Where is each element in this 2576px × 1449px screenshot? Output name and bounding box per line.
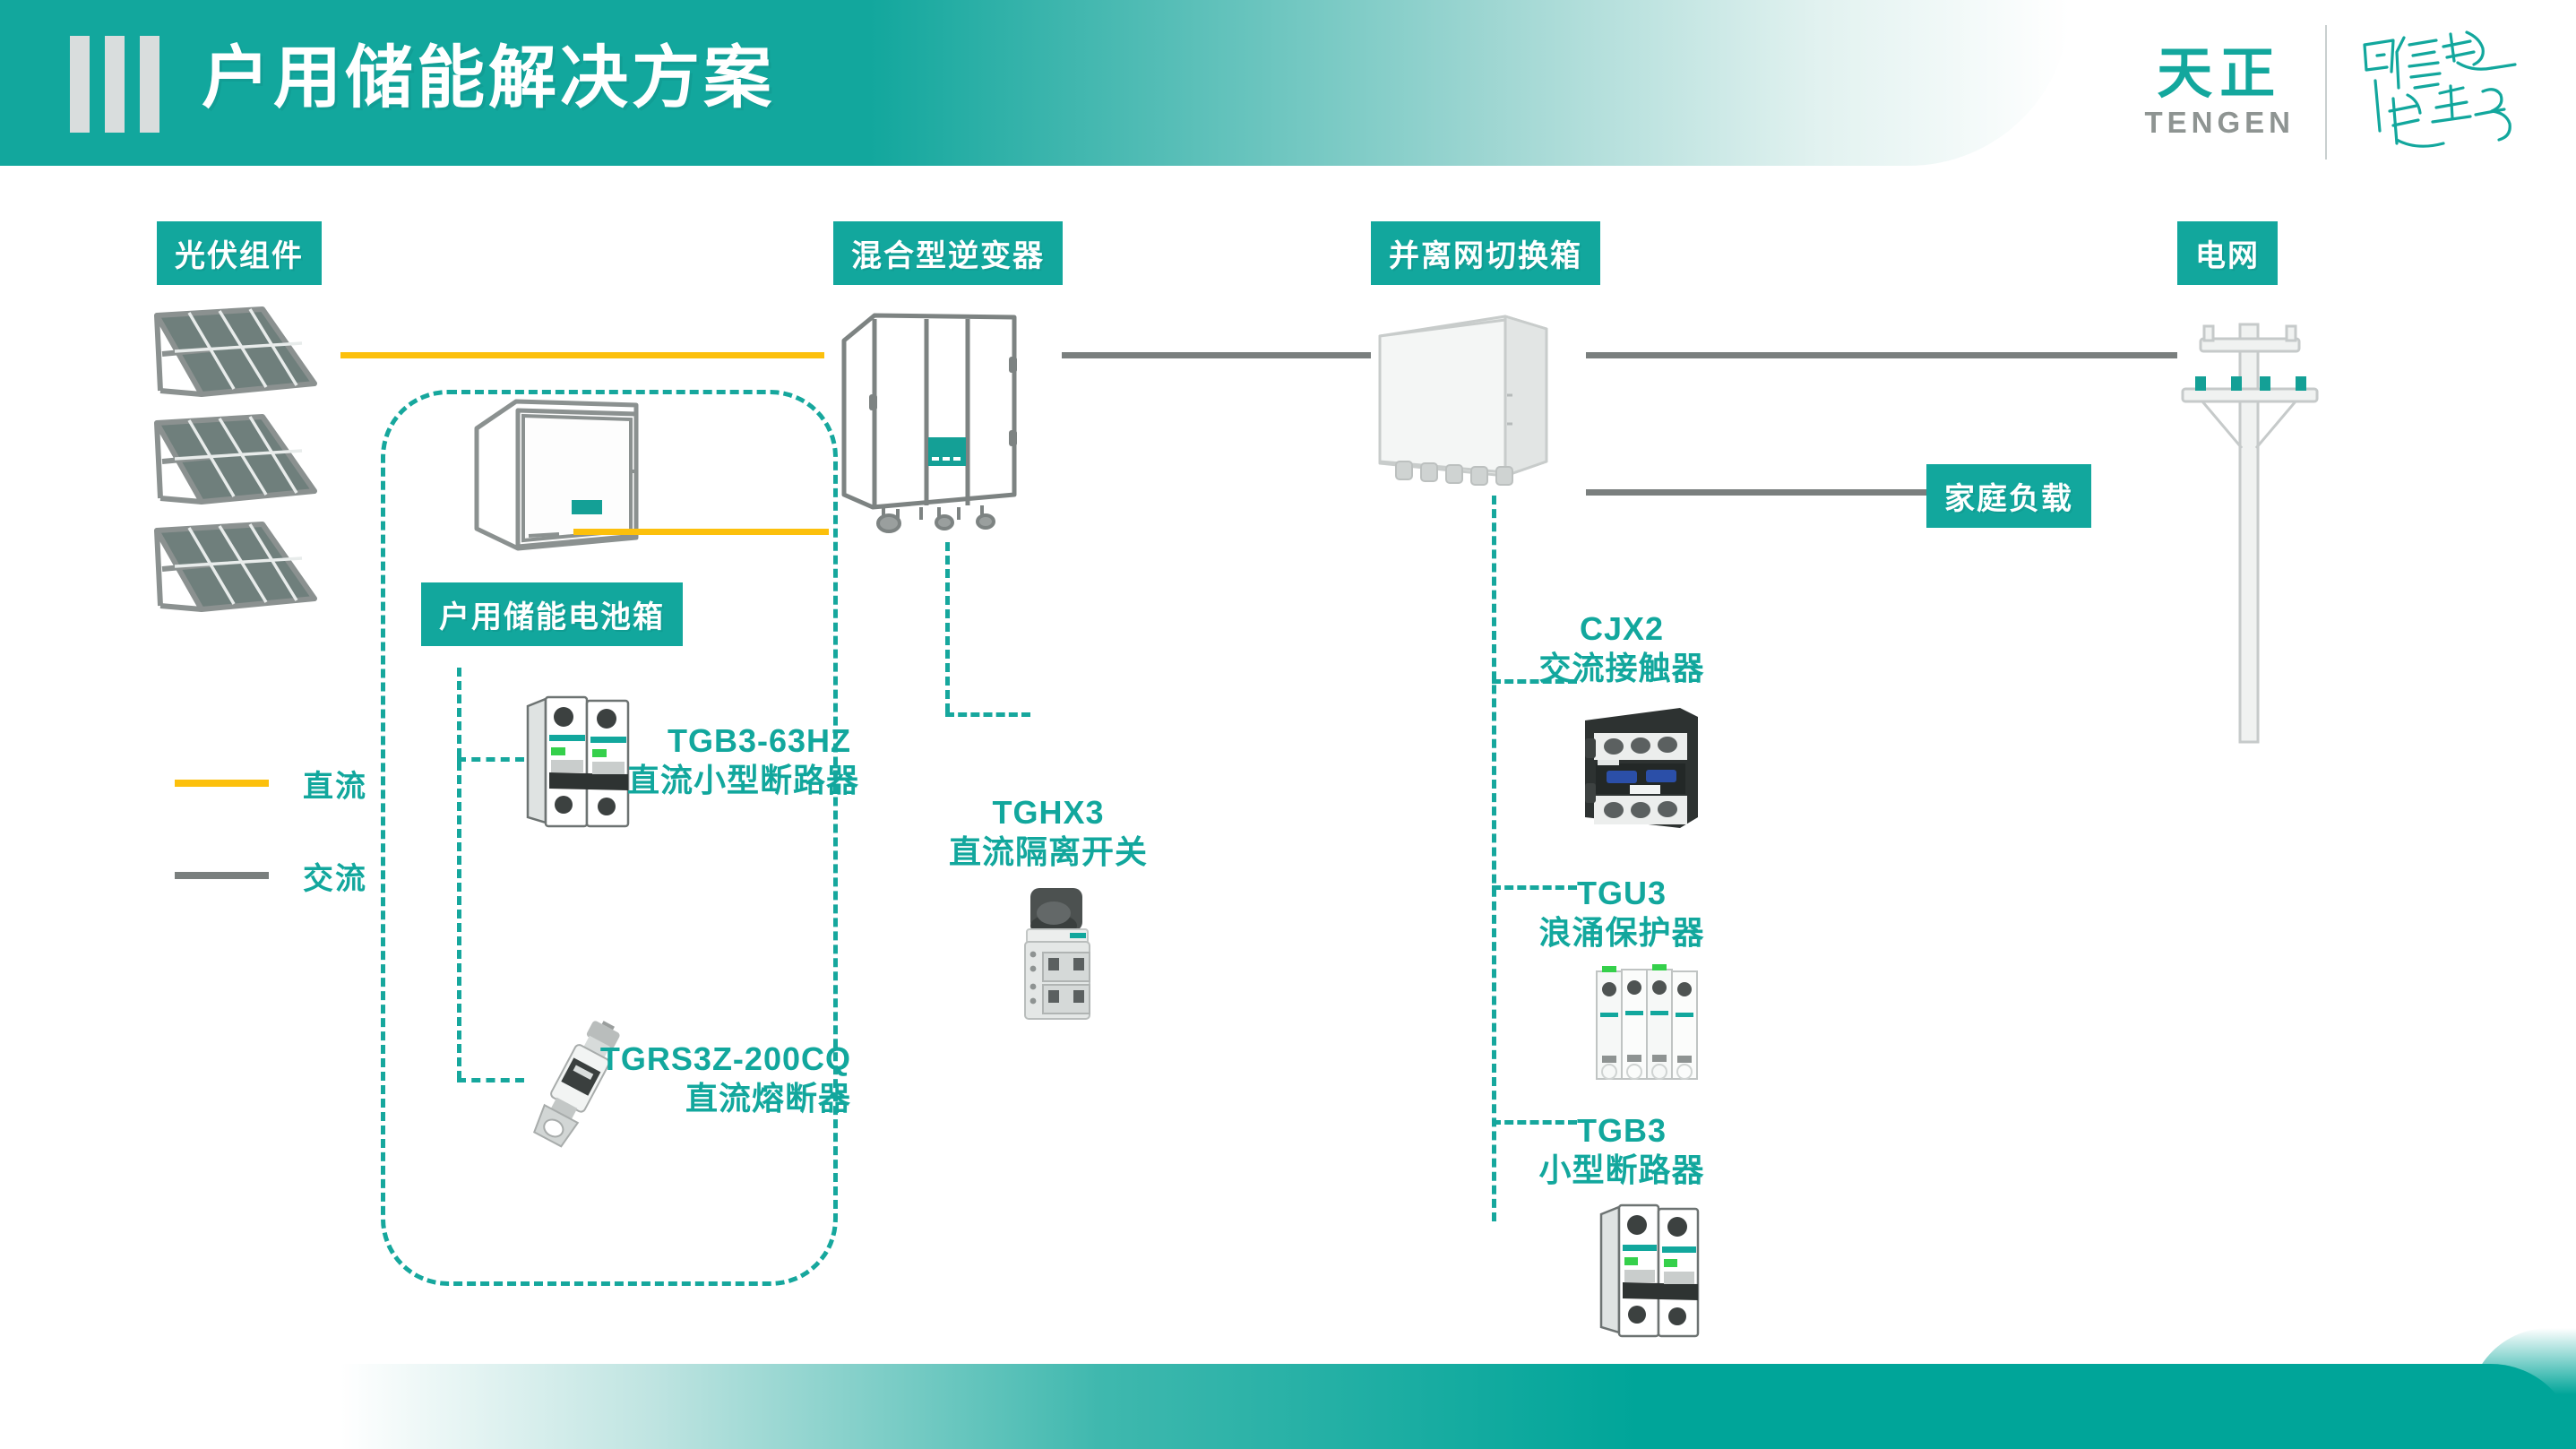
component-model-tghx3: TGHX3 [923,793,1174,832]
header-bars-icon [70,36,159,133]
branch-line-to-tgrs3z [457,1078,524,1082]
dc-isolator-switch-icon [1004,883,1111,1026]
tag-battery-box: 户用储能电池箱 [421,582,683,646]
diagram-stage: 光伏组件 直流 [0,166,2576,1331]
brand-divider [2325,25,2327,160]
wire-dc-pv-to-inverter [340,352,824,358]
component-desc-tgb3: 小型断路器 [1487,1151,1756,1190]
brand-slogan-handwriting-icon [2357,25,2528,160]
solar-panel-icon-1 [148,305,327,412]
component-model-tgb3-63hz: TGB3-63HZ [627,721,851,761]
component-desc-cjx2: 交流接触器 [1487,649,1756,688]
component-model-tgu3: TGU3 [1487,874,1756,913]
branch-line-battery-vertical [457,668,461,1080]
component-model-cjx2: CJX2 [1487,609,1756,649]
surge-protector-icon [1586,959,1707,1089]
component-desc-tghx3: 直流隔离开关 [923,832,1174,872]
tag-pv-modules: 光伏组件 [157,221,322,285]
legend-item-ac: 交流 [175,850,367,901]
legend-swatch-ac [175,872,269,879]
component-cjx2: CJX2 交流接触器 [1487,609,1756,688]
component-tgb3: TGB3 小型断路器 [1487,1111,1756,1190]
page-title: 户用储能解决方案 [202,25,775,133]
mcb-dc-icon [515,690,645,833]
legend-label-dc: 直流 [303,762,367,806]
component-tgb3-63hz: TGB3-63HZ 直流小型断路器 [627,721,851,800]
component-tgu3: TGU3 浪涌保护器 [1487,874,1756,953]
tag-home-load: 家庭负载 [1926,464,2091,528]
solar-panel-icon-3 [148,520,327,627]
legend: 直流 交流 [175,757,367,942]
mcb-icon [1590,1196,1711,1344]
legend-label-ac: 交流 [303,854,367,898]
component-tghx3: TGHX3 直流隔离开关 [923,793,1174,872]
branch-line-inverter-vertical [945,542,950,712]
tengen-logo: 天正 TENGEN [2144,45,2295,140]
branch-line-to-tghx3 [945,712,1030,717]
tag-inverter: 混合型逆变器 [833,221,1063,285]
branch-line-to-tgb3-63hz [457,757,524,762]
brand-name-en: TENGEN [2144,106,2295,140]
grid-switch-box-icon [1371,309,1555,493]
component-model-tgrs3z: TGRS3Z-200CQ [573,1039,851,1079]
wire-ac-switchbox-to-load [1586,489,1926,496]
brand-lockup: 天正 TENGEN [2144,25,2528,160]
component-tgrs3z: TGRS3Z-200CQ 直流熔断器 [573,1039,851,1118]
brand-name-cn: 天正 [2157,45,2282,104]
wire-ac-inverter-to-switchbox [1062,352,1371,358]
tag-grid: 电网 [2177,221,2278,285]
component-desc-tgrs3z: 直流熔断器 [573,1079,851,1118]
tag-switchbox: 并离网切换箱 [1371,221,1600,285]
wire-ac-switchbox-to-grid [1586,352,2177,358]
footer-decoration [0,1328,2576,1449]
wire-dc-battery-to-inverter [573,529,829,535]
component-desc-tgb3-63hz: 直流小型断路器 [627,761,851,800]
solar-panel-icon-2 [148,412,327,520]
legend-item-dc: 直流 [175,757,367,809]
page-header: 户用储能解决方案 天正 TENGEN [0,0,2576,166]
battery-cabinet-icon [466,394,645,565]
component-desc-tgu3: 浪涌保护器 [1487,913,1756,953]
utility-pole-icon [2167,305,2332,744]
legend-swatch-dc [175,780,269,787]
component-model-tgb3: TGB3 [1487,1111,1756,1151]
hybrid-inverter-icon [833,305,1026,533]
ac-contactor-icon [1572,699,1707,838]
